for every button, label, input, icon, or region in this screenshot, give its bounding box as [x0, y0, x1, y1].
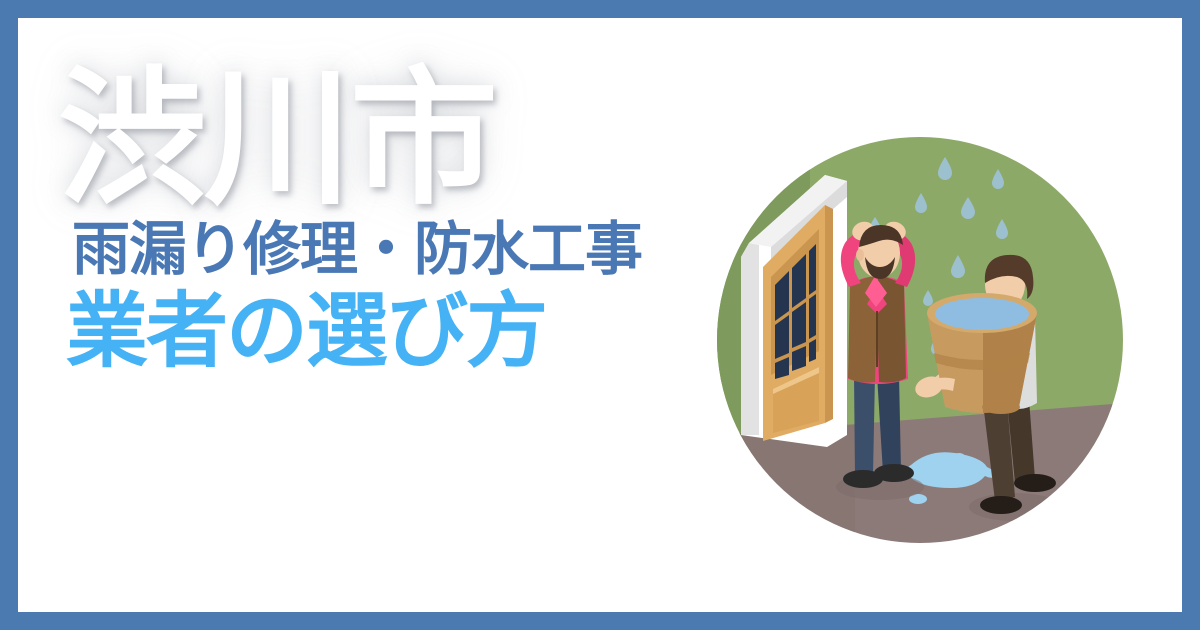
door-trim-shade — [741, 243, 759, 435]
bucket-water — [935, 298, 1029, 330]
banner-inner-frame: 渋川市 雨漏り修理・防水工事 業者の選び方 — [18, 18, 1182, 612]
glass-pane — [809, 339, 816, 362]
glass-pane — [809, 294, 816, 339]
illustration-roof-leak — [715, 135, 1125, 545]
subtitle-service: 雨漏り修理・防水工事 — [72, 220, 718, 281]
page-title-city: 渋川市 — [58, 66, 718, 214]
headline-block: 渋川市 雨漏り修理・防水工事 業者の選び方 — [58, 66, 718, 375]
puddle-droplet-small — [953, 453, 965, 461]
bucket-base — [982, 400, 1020, 414]
glass-pane — [809, 244, 816, 295]
shoe-back — [980, 496, 1022, 514]
door-group — [741, 175, 847, 447]
floor-shadow-strip — [715, 425, 855, 545]
door-leaf-edge — [825, 205, 833, 423]
subtitle-emphasis: 業者の選び方 — [66, 289, 718, 375]
shoe-right — [874, 464, 914, 482]
ear — [856, 249, 864, 261]
shoe-front — [1014, 474, 1056, 492]
banner-canvas: 渋川市 雨漏り修理・防水工事 業者の選び方 — [0, 0, 1200, 630]
jeans-left — [854, 375, 875, 475]
